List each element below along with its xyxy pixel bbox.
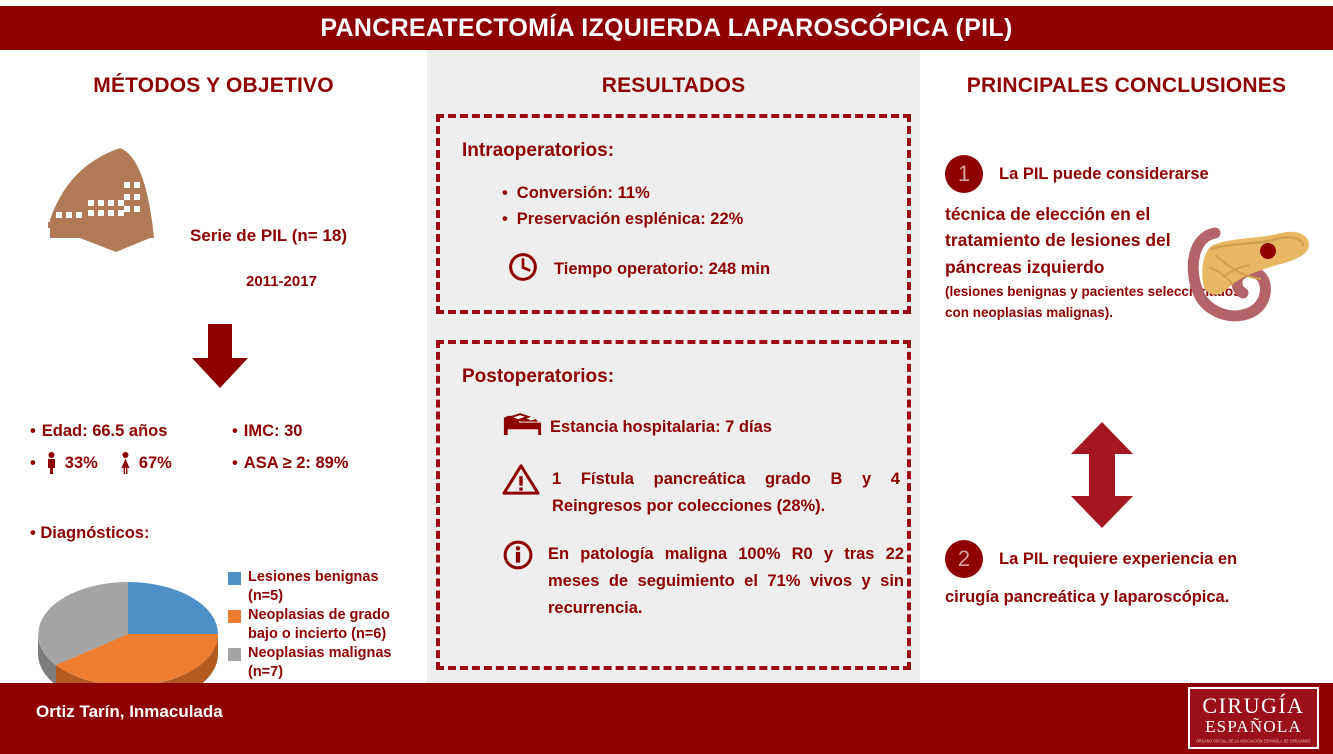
methods-column: MÉTODOS Y OBJETIVO <box>0 50 427 683</box>
pancreas-organ-icon <box>1185 215 1315 325</box>
arrow-down-icon <box>183 318 257 392</box>
splenic-preservation-text: Preservación esplénica: 22% <box>517 206 744 232</box>
intraoperative-bullet-conversion: • Conversión: 11% <box>502 180 907 206</box>
male-percentage: 33% <box>65 454 98 473</box>
intraoperative-bullets: • Conversión: 11% • Preservación espléni… <box>502 180 907 232</box>
legend-line1: Neoplasias malignas <box>248 645 391 661</box>
hospital-stay-line: Estancia hospitalaria: 7 días <box>502 410 907 444</box>
logo-subtitle: ÓRGANO OFICIAL DE LA ASOCIACIÓN ESPAÑOLA… <box>1196 738 1311 743</box>
conclusion-1-body: técnica de elección en el tratamiento de… <box>945 201 1207 280</box>
clock-icon <box>508 252 538 287</box>
conversion-text: Conversión: 11% <box>517 180 650 206</box>
poster-canvas: PANCREATECTOMÍA IZQUIERDA LAPAROSCÓPICA … <box>0 0 1333 754</box>
demographics-asa: • ASA ≥ 2: 89% <box>232 447 349 479</box>
info-circle-icon <box>502 539 534 576</box>
results-column: RESULTADOS Intraoperatorios: • Conversió… <box>427 50 920 683</box>
conclusion-2-body: cirugía pancreática y laparoscópica. <box>945 588 1320 607</box>
complications-text: 1 Fístula pancreática grado B y 4 Reingr… <box>552 462 900 519</box>
conclusion-2-lead: La PIL requiere experiencia en <box>999 550 1237 569</box>
legend-line2: (n=7) <box>248 664 283 680</box>
demographics-asa-label: ASA ≥ 2: 89% <box>244 454 349 473</box>
pie-legend: Lesiones benignas (n=5) Neoplasias de gr… <box>228 568 426 682</box>
bullet-icon: • <box>232 454 238 473</box>
male-person-icon <box>46 452 57 474</box>
operative-time-text: Tiempo operatorio: 248 min <box>554 260 770 279</box>
conclusion-1-head: 1 La PIL puede considerarse <box>945 155 1315 193</box>
female-person-icon <box>120 452 131 474</box>
complications-line: 1 Fístula pancreática grado B y 4 Reingr… <box>502 462 907 519</box>
oncologic-outcome-line: En patología maligna 100% R0 y tras 22 m… <box>502 539 907 621</box>
diagnoses-label: • Diagnósticos: <box>30 524 149 543</box>
bullet-icon: • <box>232 422 238 441</box>
bullet-icon: • <box>502 180 508 206</box>
demographics-sex-row: • 33% 67% <box>30 447 172 479</box>
poster-title-bar: PANCREATECTOMÍA IZQUIERDA LAPAROSCÓPICA … <box>0 6 1333 50</box>
legend-label-malignas: Neoplasias malignas (n=7) <box>248 644 391 681</box>
intraoperative-bullet-splenic: • Preservación esplénica: 22% <box>502 206 907 232</box>
intraoperative-title: Intraoperatorios: <box>462 140 907 162</box>
postoperative-title: Postoperatorios: <box>462 366 907 388</box>
conclusions-heading: PRINCIPALES CONCLUSIONES <box>920 74 1333 98</box>
demographics-left: • Edad: 66.5 años • 33% <box>30 415 172 479</box>
hospital-bed-icon <box>502 410 542 444</box>
conclusion-1-number-badge: 1 <box>945 155 983 193</box>
intraoperative-box: Intraoperatorios: • Conversión: 11% • Pr… <box>436 114 911 314</box>
legend-item: Neoplasias malignas (n=7) <box>228 644 426 681</box>
logo-line-2: ESPAÑOLA <box>1205 717 1302 737</box>
hospital-stay-text: Estancia hospitalaria: 7 días <box>550 418 772 437</box>
legend-item: Lesiones benignas (n=5) <box>228 568 426 605</box>
demographics-bmi-label: IMC: 30 <box>244 422 303 441</box>
study-period: 2011-2017 <box>246 273 317 290</box>
series-label: Serie de PIL (n= 18) <box>190 226 347 246</box>
conclusion-2: 2 La PIL requiere experiencia en cirugía… <box>945 540 1320 607</box>
author-name: Ortiz Tarín, Inmaculada <box>36 702 223 722</box>
legend-line1: Neoplasias de grado <box>248 607 390 623</box>
conclusion-1-lead: La PIL puede considerarse <box>999 165 1209 184</box>
arrow-up-down-icon <box>1065 420 1139 530</box>
demographics-age: • Edad: 66.5 años <box>30 415 172 447</box>
page-title: PANCREATECTOMÍA IZQUIERDA LAPAROSCÓPICA … <box>320 14 1012 43</box>
postoperative-box: Postoperatorios: Estancia hospitalaria: … <box>436 340 911 670</box>
conclusion-2-head: 2 La PIL requiere experiencia en <box>945 540 1320 578</box>
legend-label-benignas: Lesiones benignas (n=5) <box>248 568 379 605</box>
legend-label-grado-bajo: Neoplasias de grado bajo o incierto (n=6… <box>248 606 390 643</box>
results-heading: RESULTADOS <box>427 74 920 98</box>
legend-swatch-benignas <box>228 572 241 585</box>
female-percentage: 67% <box>139 454 172 473</box>
hospital-building-icon <box>42 142 172 252</box>
demographics-right: • IMC: 30 • ASA ≥ 2: 89% <box>232 415 349 479</box>
legend-line1: Lesiones benignas <box>248 569 379 585</box>
methods-heading: MÉTODOS Y OBJETIVO <box>0 74 427 98</box>
cirugia-espanola-logo: CIRUGÍA ESPAÑOLA ÓRGANO OFICIAL DE LA AS… <box>1188 687 1319 749</box>
conclusions-column: PRINCIPALES CONCLUSIONES 1 La PIL puede … <box>920 50 1333 683</box>
legend-swatch-malignas <box>228 648 241 661</box>
bullet-icon: • <box>30 454 36 473</box>
hospital-row: Serie de PIL (n= 18) 2011-2017 <box>0 130 427 250</box>
bullet-icon: • <box>502 206 508 232</box>
legend-line2: bajo o incierto (n=6) <box>248 626 386 642</box>
bullet-icon: • <box>30 422 36 441</box>
logo-line-1: CIRUGÍA <box>1202 695 1304 717</box>
warning-triangle-icon <box>502 462 540 501</box>
conclusion-2-number-badge: 2 <box>945 540 983 578</box>
demographics-age-label: Edad: 66.5 años <box>42 422 168 441</box>
oncologic-outcome-text: En patología maligna 100% R0 y tras 22 m… <box>548 539 904 621</box>
demographics-bmi: • IMC: 30 <box>232 415 349 447</box>
legend-swatch-grado-bajo <box>228 610 241 623</box>
legend-line2: (n=5) <box>248 588 283 604</box>
legend-item: Neoplasias de grado bajo o incierto (n=6… <box>228 606 426 643</box>
operative-time-line: Tiempo operatorio: 248 min <box>508 252 907 287</box>
